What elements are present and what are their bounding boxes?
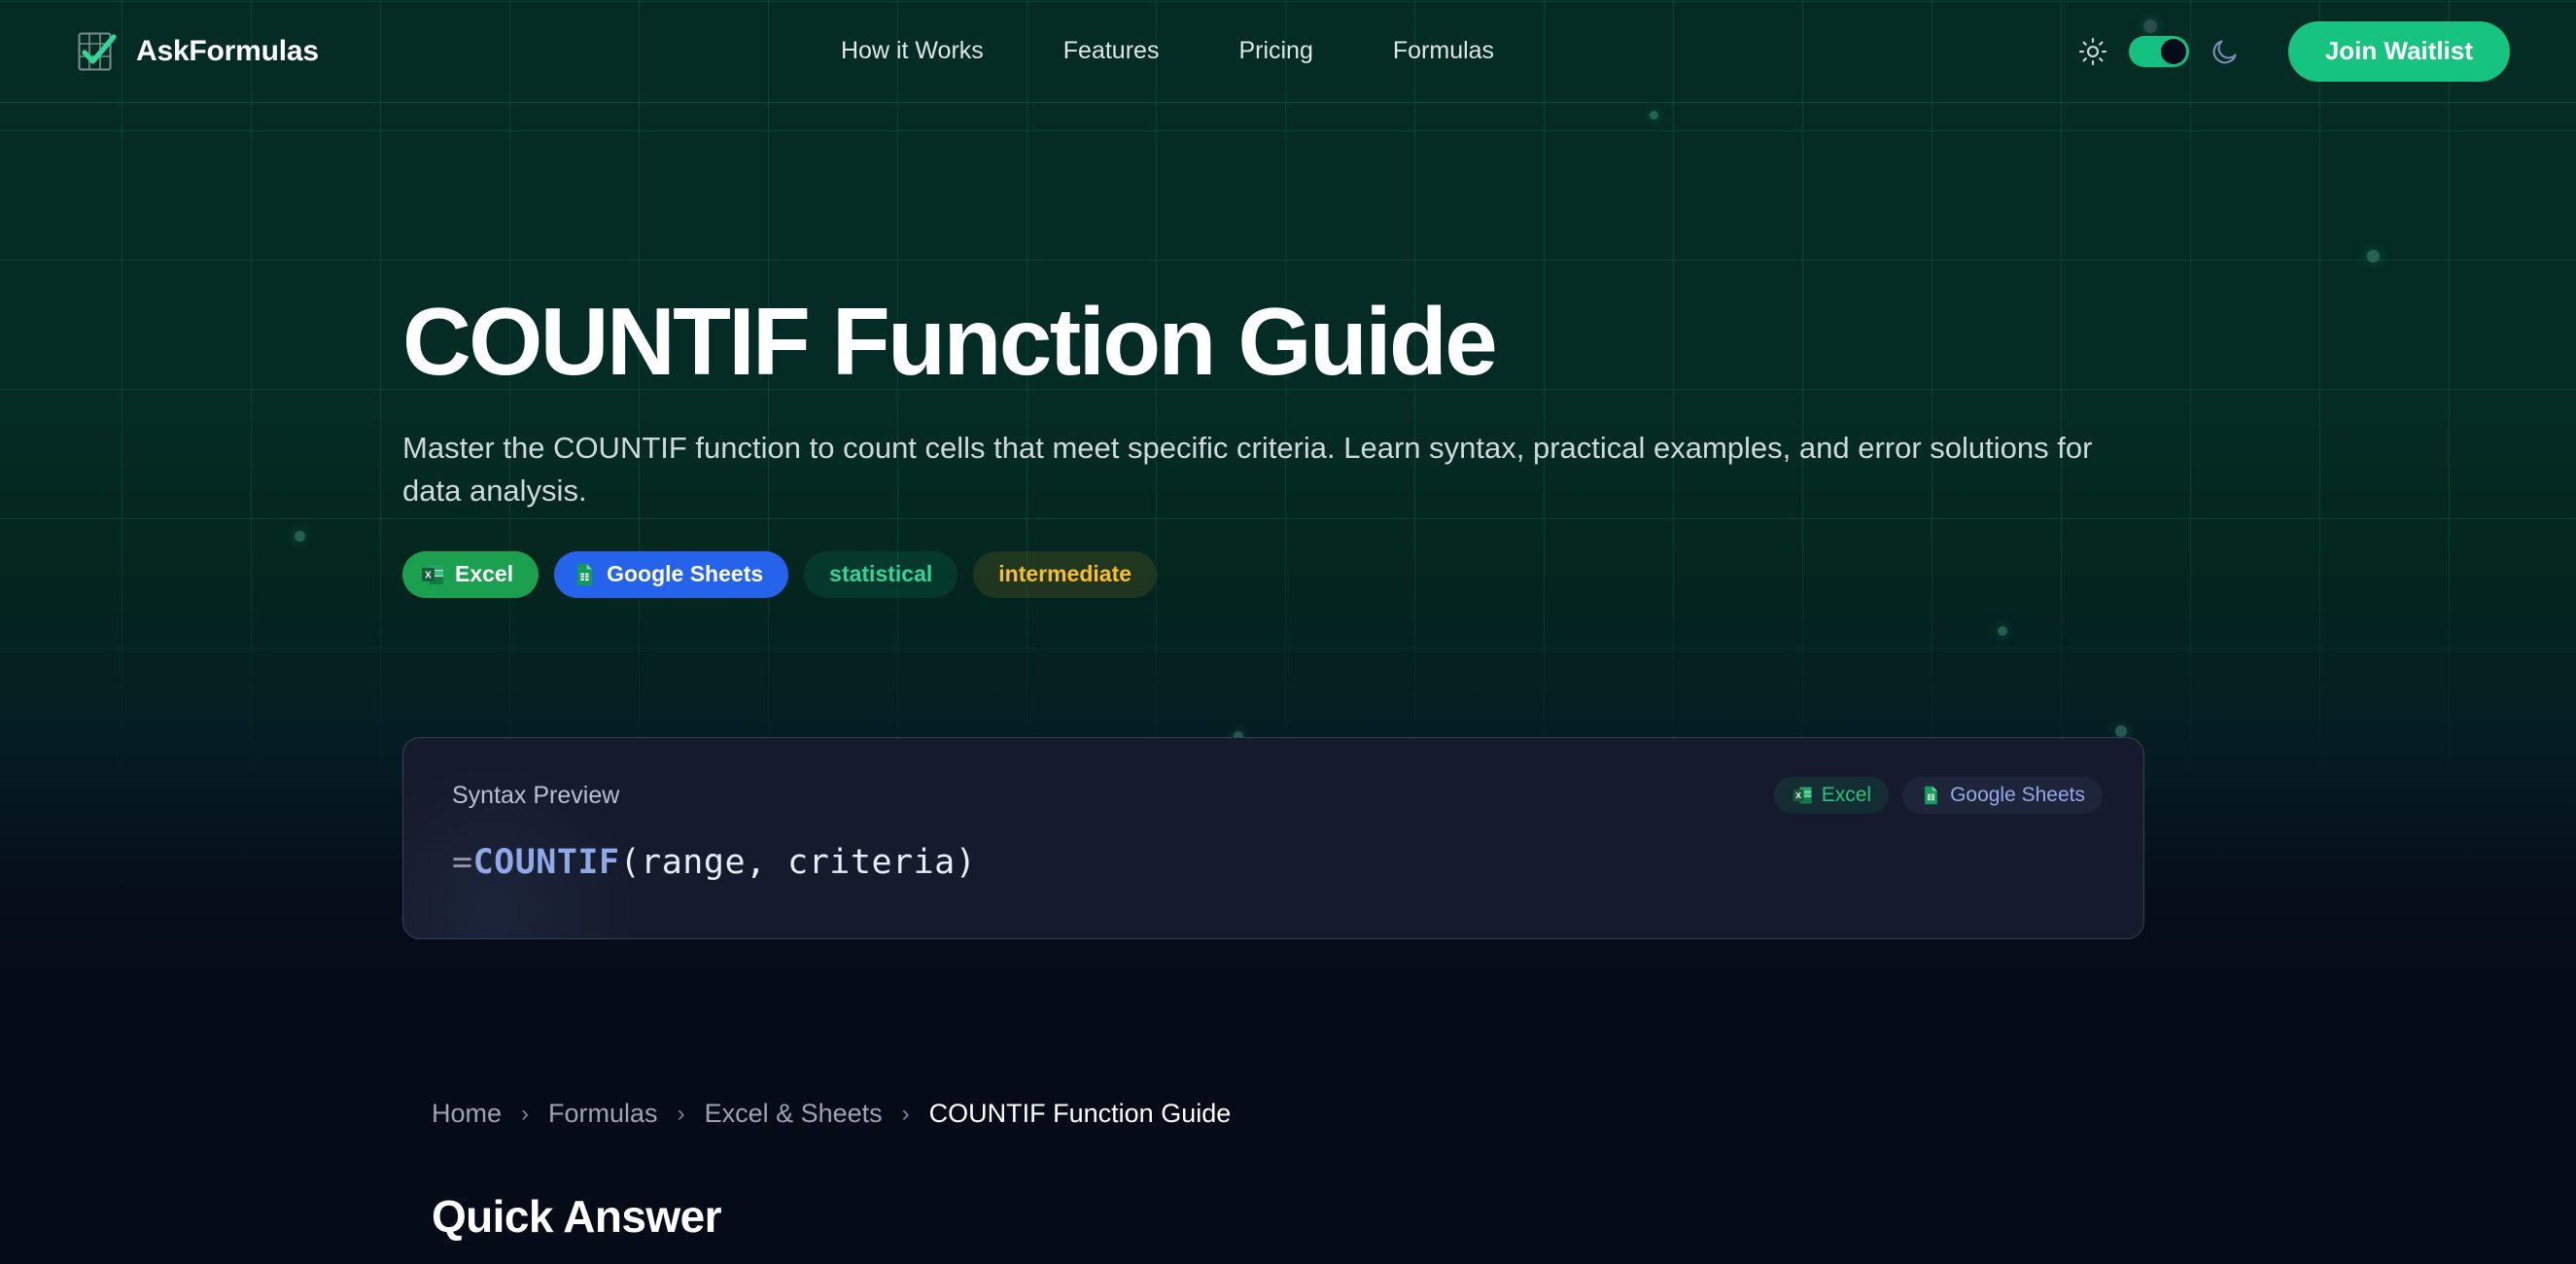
code-equals-sign: =	[452, 843, 473, 882]
syntax-preview-label: Syntax Preview	[452, 782, 619, 810]
header-actions: Join Waitlist	[2078, 21, 2510, 82]
page-subtitle: Master the COUNTIF function to count cel…	[402, 427, 2128, 512]
syntax-card-header: Syntax Preview X Excel	[452, 777, 2103, 814]
chip-google-sheets-label: Google Sheets	[1950, 784, 2085, 807]
main-navigation: How it Works Features Pricing Formulas	[841, 37, 1494, 65]
syntax-preview-card: Syntax Preview X Excel	[402, 737, 2144, 939]
code-arguments: (range, criteria)	[620, 843, 977, 882]
decorative-dot	[2367, 250, 2380, 263]
nav-item-formulas[interactable]: Formulas	[1393, 37, 1494, 65]
chevron-right-icon: ›	[678, 1103, 685, 1126]
google-sheets-icon	[1920, 785, 1941, 806]
moon-icon[interactable]	[2210, 37, 2240, 66]
google-sheets-icon	[572, 562, 597, 587]
page-root: AskFormulas How it Works Features Pricin…	[0, 0, 2576, 1264]
theme-toggle-knob	[2161, 39, 2186, 64]
sun-icon[interactable]	[2078, 37, 2107, 66]
badge-excel-label: Excel	[455, 561, 513, 587]
chip-excel-label: Excel	[1822, 784, 1871, 807]
svg-text:X: X	[1795, 790, 1801, 800]
nav-item-how-it-works[interactable]: How it Works	[841, 37, 984, 65]
decorative-dot	[295, 531, 305, 542]
badge-google-sheets[interactable]: Google Sheets	[554, 551, 788, 598]
chevron-right-icon: ›	[521, 1103, 529, 1126]
hero-section: COUNTIF Function Guide Master the COUNTI…	[402, 292, 2152, 598]
nav-item-pricing[interactable]: Pricing	[1238, 37, 1312, 65]
theme-toggle-switch[interactable]	[2129, 36, 2189, 67]
badge-excel[interactable]: X Excel	[402, 551, 539, 598]
decorative-dot	[2115, 725, 2127, 737]
badge-category-statistical[interactable]: statistical	[804, 551, 957, 598]
nav-item-features[interactable]: Features	[1063, 37, 1160, 65]
decorative-dot	[1998, 626, 2007, 636]
code-function-name: COUNTIF	[473, 843, 620, 882]
spreadsheet-check-icon	[76, 30, 119, 73]
excel-icon: X	[420, 562, 445, 587]
brand-logo-link[interactable]: AskFormulas	[76, 30, 319, 73]
breadcrumb-item-formulas[interactable]: Formulas	[548, 1099, 658, 1129]
join-waitlist-button[interactable]: Join Waitlist	[2288, 21, 2510, 82]
badge-difficulty-intermediate[interactable]: intermediate	[973, 551, 1157, 598]
page-title: COUNTIF Function Guide	[402, 292, 2152, 392]
brand-name: AskFormulas	[136, 35, 319, 68]
syntax-code-block: =COUNTIF(range, criteria)	[452, 843, 976, 882]
badge-google-sheets-label: Google Sheets	[607, 561, 763, 587]
syntax-dialect-chips: X Excel	[1774, 777, 2103, 814]
content-background	[0, 972, 2576, 1264]
section-title-quick-answer: Quick Answer	[432, 1190, 721, 1243]
hero-badges: X Excel Google Sheets	[402, 551, 2152, 598]
svg-text:X: X	[425, 571, 432, 581]
chip-excel[interactable]: X Excel	[1774, 777, 1889, 814]
chip-google-sheets[interactable]: Google Sheets	[1902, 777, 2103, 814]
breadcrumb-current-page: COUNTIF Function Guide	[929, 1099, 1232, 1129]
excel-icon: X	[1792, 785, 1813, 806]
breadcrumb-item-excel-sheets[interactable]: Excel & Sheets	[705, 1099, 883, 1129]
breadcrumb-item-home[interactable]: Home	[432, 1099, 502, 1129]
breadcrumb: Home › Formulas › Excel & Sheets › COUNT…	[432, 1099, 1231, 1129]
decorative-dot	[1650, 111, 1658, 120]
chevron-right-icon: ›	[902, 1103, 910, 1126]
site-header: AskFormulas How it Works Features Pricin…	[0, 0, 2576, 103]
